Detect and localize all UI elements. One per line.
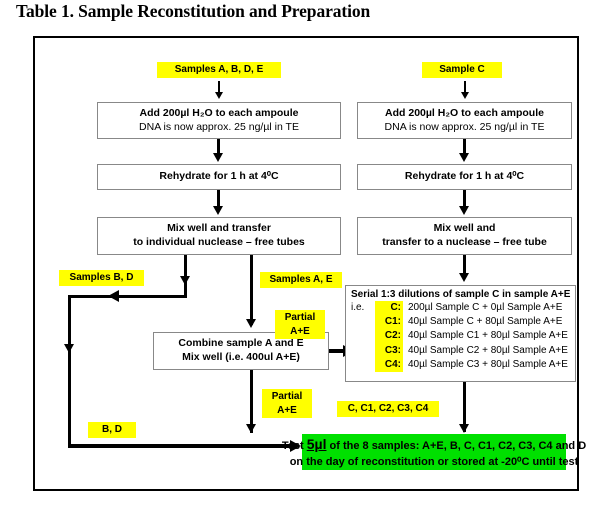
- dilution-row: C4:40µl Sample C3 + 80µl Sample A+E: [351, 358, 570, 372]
- box-left-mix-transfer-line1: Mix well and transfer: [167, 222, 271, 236]
- connector-right-start-arrow: [461, 92, 469, 99]
- dilution-tag: C4:: [375, 358, 403, 372]
- label-partial-ae-down-line2: A+E: [277, 405, 297, 416]
- dilution-header: Serial 1:3 dilutions of sample C in samp…: [351, 289, 570, 300]
- box-left-add-water-line2: DNA is now approx. 25 ng/µl in TE: [139, 121, 299, 135]
- connector-ae-down: [250, 255, 253, 325]
- label-sample-c: Sample C: [422, 62, 502, 78]
- dilution-ie-label: i.e.: [351, 301, 375, 315]
- terminal-line2: on the day of reconstitution or stored a…: [290, 455, 579, 471]
- dilution-row: C2:40µl Sample C1 + 80µl Sample A+E: [351, 329, 570, 343]
- connector-bd-down-arrow: [180, 276, 190, 285]
- label-partial-ae-down: Partial A+E: [262, 389, 312, 418]
- connector-ae-down-arrow: [246, 319, 256, 328]
- connector-left-start-arrow: [215, 92, 223, 99]
- connector-left-1-2-arrow: [213, 153, 223, 162]
- box-combine-ae-line1: Combine sample A and E: [178, 337, 303, 351]
- label-samples-bd: Samples B, D: [59, 270, 144, 286]
- terminal-line1: Test 5µl of the 8 samples: A+E, B, C, C1…: [282, 434, 586, 455]
- box-left-add-water-line1: Add 200µl H₂O to each ampoule: [140, 107, 299, 121]
- dilution-text: 40µl Sample C1 + 80µl Sample A+E: [403, 329, 568, 343]
- connector-bd-vertical-long: [68, 295, 71, 447]
- connector-left-2-3-arrow: [213, 206, 223, 215]
- diagram-frame: Samples A, B, D, E Add 200µl H₂O to each…: [33, 36, 579, 491]
- label-partial-ae-right-line2: A+E: [290, 326, 310, 337]
- box-right-add-water-line2: DNA is now approx. 25 ng/µl in TE: [385, 121, 545, 135]
- terminal-line1-post: of the 8 samples: A+E, B, C, C1, C2, C3,…: [326, 440, 586, 452]
- dilution-tag: C:: [375, 301, 403, 315]
- label-c-series-output: C, C1, C2, C3, C4: [337, 401, 439, 417]
- box-left-rehydrate: Rehydrate for 1 h at 4⁰C: [97, 164, 341, 190]
- connector-dil-down-arrow: [459, 424, 469, 433]
- label-partial-ae-right-line1: Partial: [285, 312, 316, 323]
- box-left-rehydrate-line1: Rehydrate for 1 h at 4⁰C: [159, 170, 278, 184]
- dilution-text: 40µl Sample C2 + 80µl Sample A+E: [403, 344, 568, 358]
- connector-bd-bottom-horizontal: [68, 444, 293, 448]
- label-partial-ae-down-line1: Partial: [272, 391, 303, 402]
- dilution-tag: C3:: [375, 344, 403, 358]
- box-right-rehydrate: Rehydrate for 1 h at 4⁰C: [357, 164, 572, 190]
- terminal-line1-pre: Test: [282, 440, 307, 452]
- dilution-row: C3:40µl Sample C2 + 80µl Sample A+E: [351, 344, 570, 358]
- dilution-row: i.e.C:200µl Sample C + 0µl Sample A+E: [351, 301, 570, 315]
- label-partial-ae-right: Partial A+E: [275, 310, 325, 339]
- box-left-add-water: Add 200µl H₂O to each ampoule DNA is now…: [97, 102, 341, 139]
- dilution-rows: i.e.C:200µl Sample C + 0µl Sample A+EC1:…: [351, 301, 570, 372]
- box-right-add-water-line1: Add 200µl H₂O to each ampoule: [385, 107, 544, 121]
- label-bd-bottom: B, D: [88, 422, 136, 438]
- box-right-rehydrate-line1: Rehydrate for 1 h at 4⁰C: [405, 170, 524, 184]
- connector-combine-down-arrow: [246, 424, 256, 433]
- label-samples-ae: Samples A, E: [260, 272, 342, 288]
- page-title: Table 1. Sample Reconstitution and Prepa…: [16, 1, 370, 22]
- dilution-text: 200µl Sample C + 0µl Sample A+E: [403, 301, 562, 315]
- dilution-tag: C1:: [375, 315, 403, 329]
- box-right-mix-transfer-line1: Mix well and: [434, 222, 496, 236]
- dilution-text: 40µl Sample C3 + 80µl Sample A+E: [403, 358, 568, 372]
- box-left-mix-transfer: Mix well and transfer to individual nucl…: [97, 217, 341, 255]
- box-combine-ae-line2: Mix well (i.e. 400ul A+E): [182, 351, 300, 365]
- dilution-tag: C2:: [375, 329, 403, 343]
- connector-bd-mid-arrow: [64, 344, 74, 353]
- box-terminal-test: Test 5µl of the 8 samples: A+E, B, C, C1…: [302, 434, 566, 470]
- box-serial-dilutions: Serial 1:3 dilutions of sample C in samp…: [345, 285, 576, 382]
- box-left-mix-transfer-line2: to individual nuclease – free tubes: [133, 236, 305, 250]
- connector-right-3-dil-arrow: [459, 273, 469, 282]
- box-right-mix-transfer: Mix well and transfer to a nuclease – fr…: [357, 217, 572, 255]
- dilution-row: C1:40µl Sample C + 80µl Sample A+E: [351, 315, 570, 329]
- label-samples-abde: Samples A, B, D, E: [157, 62, 281, 78]
- connector-right-2-3-arrow: [459, 206, 469, 215]
- box-right-mix-transfer-line2: transfer to a nuclease – free tube: [382, 236, 547, 250]
- connector-right-1-2-arrow: [459, 153, 469, 162]
- terminal-volume: 5µl: [307, 436, 327, 452]
- connector-bd-left-arrow: [108, 290, 119, 302]
- dilution-text: 40µl Sample C + 80µl Sample A+E: [403, 315, 562, 329]
- box-right-add-water: Add 200µl H₂O to each ampoule DNA is now…: [357, 102, 572, 139]
- connector-bd-horizontal: [68, 295, 187, 298]
